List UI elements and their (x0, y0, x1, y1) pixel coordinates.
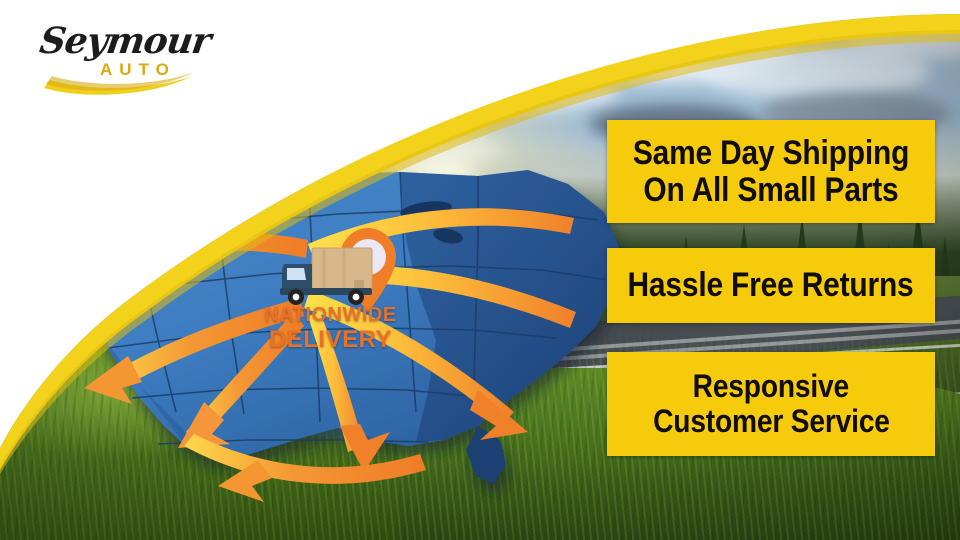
banner-line: Same Day Shipping (633, 135, 909, 172)
banner-hassle-free-returns[interactable]: Hassle Free Returns (607, 248, 935, 323)
nationwide-delivery-caption: NATIONWIDE DELIVERY (248, 305, 413, 353)
banner-same-day-shipping[interactable]: Same Day Shipping On All Small Parts (607, 120, 935, 223)
banner-line: Responsive (693, 369, 849, 404)
promo-banner-image: NATIONWIDE DELIVERY Seymour AUTO Same Da… (0, 0, 960, 540)
banner-line: Hassle Free Returns (628, 267, 914, 304)
logo-wordmark: Seymour (37, 20, 213, 62)
banner-line: On All Small Parts (643, 172, 898, 209)
banner-responsive-customer-service[interactable]: Responsive Customer Service (607, 352, 935, 456)
brand-logo[interactable]: Seymour AUTO (24, 18, 224, 100)
caption-line-1: NATIONWIDE (248, 305, 413, 327)
banner-line: Customer Service (653, 404, 890, 439)
caption-line-2: DELIVERY (248, 327, 413, 353)
logo-subtext: AUTO (100, 60, 176, 80)
